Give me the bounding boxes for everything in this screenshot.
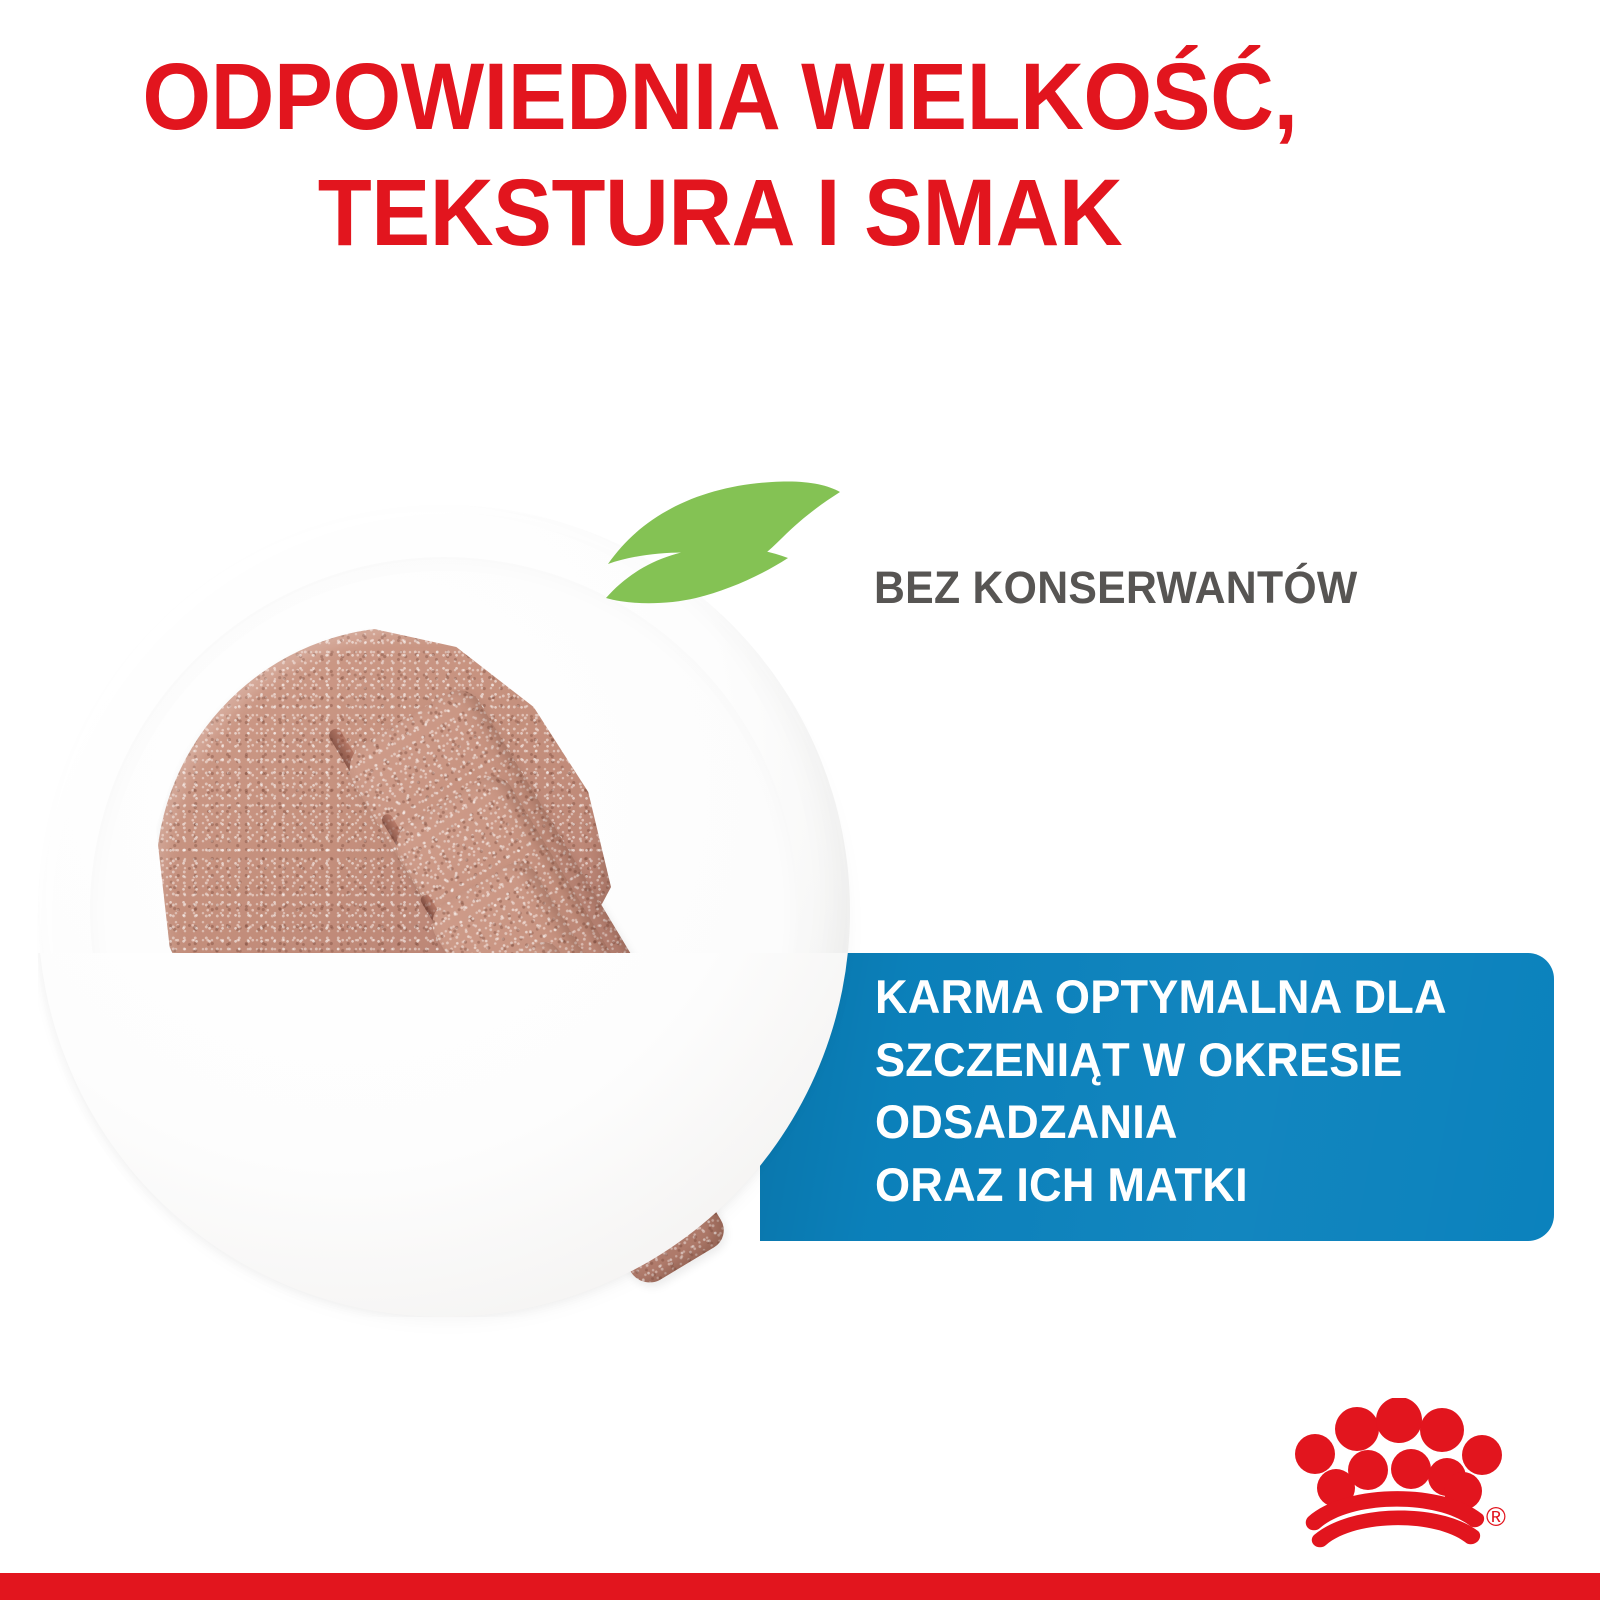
crown-dot — [1295, 1434, 1335, 1474]
footer-bar — [0, 1573, 1600, 1600]
page-title: ODPOWIEDNIA WIELKOŚĆ, TEKSTURA I SMAK — [50, 40, 1389, 272]
crown-dot — [1462, 1435, 1502, 1475]
registered-trademark-mark: ® — [1486, 1504, 1506, 1531]
crown-dot — [1391, 1449, 1431, 1489]
claim-line-2: SZCZENIĄT W OKRESIE — [875, 1029, 1447, 1092]
pack-feature-panel: ODPOWIEDNIA WIELKOŚĆ, TEKSTURA I SMAK KA… — [0, 0, 1600, 1600]
crown-dot — [1420, 1408, 1464, 1452]
claim-line-1: KARMA OPTYMALNA DLA — [875, 966, 1447, 1029]
royal-canin-crown-logo — [1292, 1398, 1502, 1548]
leaf-icon — [604, 472, 842, 604]
no-preservatives-label: BEZ KONSERWANTÓW — [874, 562, 1358, 614]
claim-line-4: ORAZ ICH MATKI — [875, 1154, 1447, 1217]
claim-panel: KARMA OPTYMALNA DLA SZCZENIĄT W OKRESIE … — [760, 953, 1554, 1241]
crown-dot — [1376, 1398, 1422, 1443]
claim-panel-text: KARMA OPTYMALNA DLA SZCZENIĄT W OKRESIE … — [875, 966, 1447, 1216]
crown-dot — [1335, 1407, 1379, 1451]
headline-line-1: ODPOWIEDNIA WIELKOŚĆ, — [50, 40, 1389, 156]
headline-line-2: TEKSTURA I SMAK — [50, 156, 1389, 272]
claim-line-3: ODSADZANIA — [875, 1091, 1447, 1154]
crown-dot — [1348, 1450, 1388, 1490]
